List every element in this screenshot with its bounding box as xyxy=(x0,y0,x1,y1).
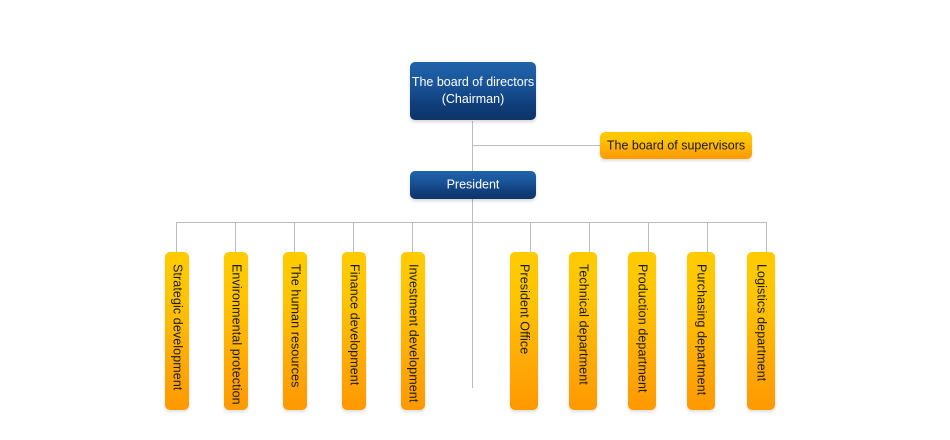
connector-drop-1 xyxy=(176,222,177,253)
node-department-label: Technical department xyxy=(577,264,590,385)
node-president-label: President xyxy=(410,177,536,194)
connector-drop-10 xyxy=(766,222,767,253)
node-department-label: Purchasing department xyxy=(695,264,708,395)
connector-distribution-bar xyxy=(176,222,766,223)
node-department-president-office[interactable]: President Office xyxy=(510,252,538,410)
node-board-of-directors[interactable]: The board of directors (Chairman) xyxy=(410,62,536,120)
connector-drop-3 xyxy=(294,222,295,253)
node-department-label: Environmental protection xyxy=(230,264,243,405)
node-department-label: Investment development xyxy=(407,264,420,402)
node-department-investment-development[interactable]: Investment development xyxy=(401,252,425,410)
node-department-environmental-protection[interactable]: Environmental protection xyxy=(224,252,248,410)
node-department-label: Logistics department xyxy=(755,264,768,381)
connector-to-supervisors xyxy=(472,145,601,146)
node-department-strategic-development[interactable]: Strategic development xyxy=(165,252,189,410)
connector-drop-6 xyxy=(530,222,531,253)
node-department-technical[interactable]: Technical department xyxy=(569,252,597,410)
connector-drop-2 xyxy=(235,222,236,253)
node-department-purchasing[interactable]: Purchasing department xyxy=(687,252,715,410)
node-department-label: Strategic development xyxy=(171,264,184,390)
connector-chairman-to-president xyxy=(472,121,473,171)
node-department-human-resources[interactable]: The human resources xyxy=(283,252,307,410)
node-department-production[interactable]: Production department xyxy=(628,252,656,410)
node-board-of-directors-label: The board of directors (Chairman) xyxy=(410,74,536,108)
node-board-of-supervisors[interactable]: The board of supervisors xyxy=(600,132,752,159)
node-department-finance-development[interactable]: Finance development xyxy=(342,252,366,410)
node-president[interactable]: President xyxy=(410,171,536,199)
connector-president-down xyxy=(472,199,473,388)
node-department-label: Production department xyxy=(636,264,649,393)
node-department-label: Finance development xyxy=(348,264,361,385)
node-board-of-supervisors-label: The board of supervisors xyxy=(600,137,752,154)
node-department-label: The human resources xyxy=(289,264,302,388)
node-department-logistics[interactable]: Logistics department xyxy=(747,252,775,410)
connector-drop-8 xyxy=(648,222,649,253)
connector-drop-7 xyxy=(589,222,590,253)
connector-drop-5 xyxy=(412,222,413,253)
connector-drop-9 xyxy=(707,222,708,253)
connector-drop-4 xyxy=(353,222,354,253)
org-chart: The board of directors (Chairman) The bo… xyxy=(0,0,950,440)
node-department-label: President Office xyxy=(518,264,531,354)
